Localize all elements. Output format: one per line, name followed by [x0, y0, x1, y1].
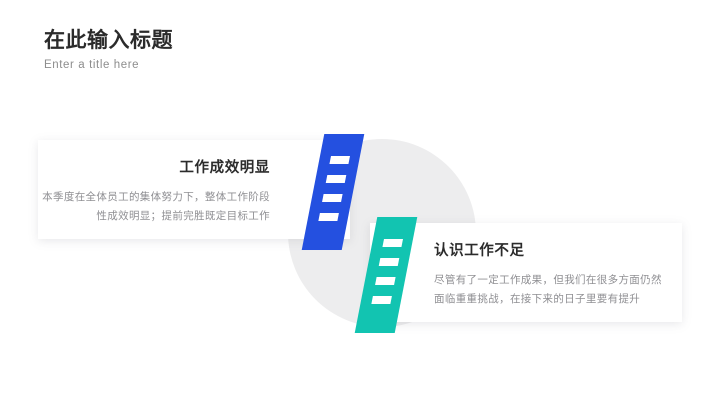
blue-ribbon-notch [318, 213, 339, 221]
blue-ribbon-notch [329, 156, 350, 164]
card-2-body: 认识工作不足 尽管有了一定工作成果，但我们在很多方面仍然面临重重挑战，在接下来的… [428, 223, 682, 322]
slide-canvas: 在此输入标题 Enter a title here 工作成效明显 本季度在全体员… [0, 0, 720, 405]
blue-ribbon-notch [322, 194, 343, 202]
page-subtitle: Enter a title here [44, 58, 444, 73]
teal-ribbon-notch [371, 296, 392, 304]
card-1-text: 本季度在全体员工的集体努力下，整体工作阶段性成效明显；提前完胜既定目标工作 [38, 188, 270, 226]
card-1-title: 工作成效明显 [38, 159, 270, 177]
blue-ribbon-notch [326, 175, 347, 183]
card-2-text: 尽管有了一定工作成果，但我们在很多方面仍然面临重重挑战，在接下来的日子里要有提升 [434, 271, 672, 309]
teal-ribbon-notch [379, 258, 400, 266]
slide-header: 在此输入标题 Enter a title here [44, 28, 444, 73]
teal-ribbon-notch [375, 277, 396, 285]
content-card-1[interactable]: 工作成效明显 本季度在全体员工的集体努力下，整体工作阶段性成效明显；提前完胜既定… [38, 140, 350, 239]
card-1-body: 工作成效明显 本季度在全体员工的集体努力下，整体工作阶段性成效明显；提前完胜既定… [38, 140, 284, 239]
content-card-2[interactable]: 认识工作不足 尽管有了一定工作成果，但我们在很多方面仍然面临重重挑战，在接下来的… [370, 223, 682, 322]
card-2-title: 认识工作不足 [434, 242, 682, 260]
page-title: 在此输入标题 [44, 28, 444, 54]
teal-ribbon-notch [382, 239, 403, 247]
